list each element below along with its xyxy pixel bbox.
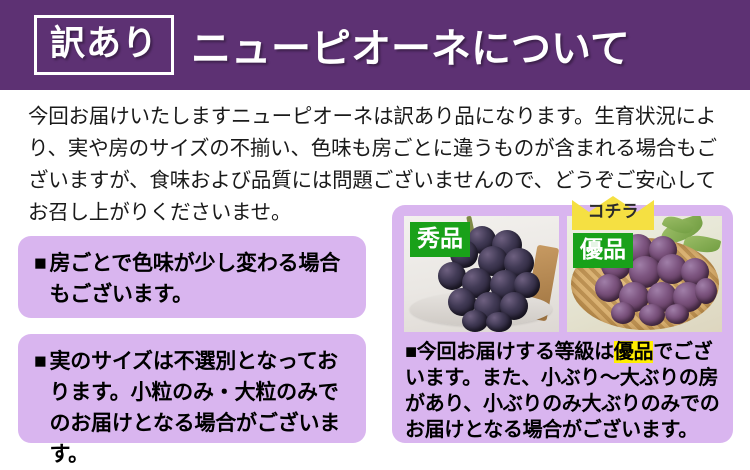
grade-note-text: ■今回お届けする等級は優品でございます。また、小ぶり〜大ぶりの房があり、小ぶりの… (405, 339, 723, 443)
wakeari-badge: 訳あり (34, 15, 174, 75)
notice-box-size-unsorted: ■ 実のサイズは不選別となっております。小粒のみ・大粒のみでのお届けとなる場合が… (18, 334, 366, 443)
grade-badge-yuhin: 優品 (573, 233, 633, 268)
kochira-label: コチラ (570, 203, 656, 220)
notice-box-size-unsorted-text: 実のサイズは不選別となっております。小粒のみ・大粒のみでのお届けとなる場合がござ… (49, 346, 352, 470)
notice-box-color-variation: ■ 房ごとで色味が少し変わる場合もございます。 (18, 236, 366, 318)
page-header: 訳あり ニューピオーネについて (0, 0, 750, 90)
grade-badge-shuhin: 秀品 (410, 222, 470, 257)
notice-box-color-variation-text: 房ごとで色味が少し変わる場合もございます。 (49, 248, 352, 310)
kochira-crown-banner: コチラ (570, 196, 656, 230)
grade-note-before: 今回お届けする等級は (417, 341, 614, 363)
bullet-square-icon: ■ (34, 248, 46, 310)
grade-note-highlight: 優品 (614, 341, 653, 363)
grade-comparison-panel: 秀品 優品 (392, 205, 733, 443)
bullet-square-icon: ■ (405, 341, 417, 363)
photo-yuhin: 優品 (567, 216, 722, 332)
page-title: ニューピオーネについて (191, 16, 630, 74)
bullet-square-icon: ■ (34, 346, 46, 470)
photo-shuhin: 秀品 (404, 216, 559, 332)
grade-photo-row: 秀品 優品 (404, 216, 722, 332)
